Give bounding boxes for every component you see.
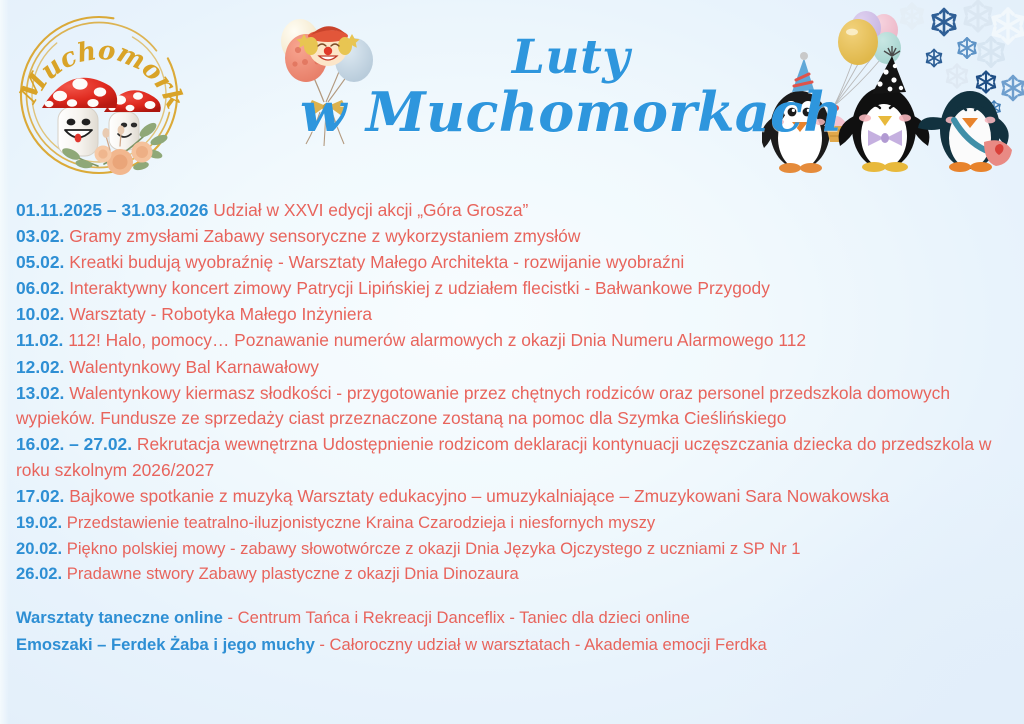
event-date: 19.02. [16, 513, 62, 532]
event-item: 13.02. Walentynkowy kiermasz słodkości -… [16, 381, 1010, 432]
event-description: Interaktywny koncert zimowy Patrycji Lip… [69, 278, 770, 298]
event-description: Rekrutacja wewnętrzna Udostępnienie rodz… [16, 434, 991, 480]
event-description: 112! Halo, pomocy… Poznawanie numerów al… [68, 330, 806, 350]
event-item: 20.02. Piękno polskiej mowy - zabawy sło… [16, 536, 1010, 561]
activity-description: - Całoroczny udział w warsztatach - Akad… [319, 635, 766, 654]
event-description: Przedstawienie teatralno-iluzjonistyczne… [67, 513, 655, 532]
event-item: 05.02. Kreatki budują wyobraźnię - Warsz… [16, 250, 1010, 276]
logo-graphic: Muchomorki [8, 4, 190, 186]
event-description: Bajkowe spotkanie z muzyką Warsztaty edu… [69, 486, 889, 506]
event-description: Walentynkowy kiermasz słodkości - przygo… [16, 383, 950, 429]
event-description: Piękno polskiej mowy - zabawy słowotwórc… [67, 539, 801, 558]
ongoing-activity-item: Emoszaki – Ferdek Żaba i jego muchy - Ca… [16, 631, 1010, 658]
event-date: 03.02. [16, 226, 64, 246]
event-item: 12.02. Walentynkowy Bal Karnawałowy [16, 355, 1010, 381]
penguin-with-handbag-icon [918, 91, 1012, 172]
event-date: 11.02. [16, 330, 63, 350]
event-date: 05.02. [16, 252, 64, 272]
event-date: 06.02. [16, 278, 64, 298]
event-description: Walentynkowy Bal Karnawałowy [69, 357, 319, 377]
event-date: 10.02. [16, 304, 64, 324]
activity-description: - Centrum Tańca i Rekreacji Danceflix - … [227, 608, 689, 627]
event-item: 10.02. Warsztaty - Robotyka Małego Inżyn… [16, 302, 1010, 328]
penguin-with-bowtie-icon [839, 46, 930, 172]
event-item: 26.02. Pradawne stwory Zabawy plastyczne… [16, 561, 1010, 586]
event-date: 12.02. [16, 357, 64, 377]
handbag-icon [984, 140, 1012, 166]
ongoing-activities-list: Warsztaty taneczne online - Centrum Tańc… [0, 604, 1024, 658]
event-description: Warsztaty - Robotyka Małego Inżyniera [69, 304, 372, 324]
title-line-1: Luty [382, 34, 760, 82]
event-date: 26.02. [16, 564, 62, 583]
event-item: 03.02. Gramy zmysłami Zabawy sensoryczne… [16, 224, 1010, 250]
event-description: Pradawne stwory Zabawy plastyczne z okaz… [67, 564, 519, 583]
event-date: 20.02. [16, 539, 62, 558]
muchomorki-logo: Muchomorki [8, 4, 190, 186]
poster-title: Luty w Muchomorkach [330, 34, 760, 140]
title-line-2: w Muchomorkach [300, 84, 760, 140]
event-date: 13.02. [16, 383, 64, 403]
poster-canvas: Muchomorki [0, 0, 1024, 724]
events-list: 01.11.2025 – 31.03.2026 Udział w XXVI ed… [0, 198, 1024, 586]
event-date: 01.11.2025 – 31.03.2026 [16, 200, 208, 220]
event-item: 19.02. Przedstawienie teatralno-iluzjoni… [16, 510, 1010, 535]
event-description: Kreatki budują wyobraźnię - Warsztaty Ma… [69, 252, 684, 272]
event-item: 01.11.2025 – 31.03.2026 Udział w XXVI ed… [16, 198, 1010, 224]
event-description: Udział w XXVI edycji akcji „Góra Grosza” [213, 200, 528, 220]
activity-title: Emoszaki – Ferdek Żaba i jego muchy [16, 635, 315, 654]
event-item: 16.02. – 27.02. Rekrutacja wewnętrzna Ud… [16, 432, 1010, 483]
event-date: 16.02. – 27.02. [16, 434, 132, 454]
ongoing-activity-item: Warsztaty taneczne online - Centrum Tańc… [16, 604, 1010, 631]
event-item: 06.02. Interaktywny koncert zimowy Patry… [16, 276, 1010, 302]
event-date: 17.02. [16, 486, 64, 506]
event-item: 17.02. Bajkowe spotkanie z muzyką Warszt… [16, 484, 1010, 510]
activity-title: Warsztaty taneczne online [16, 608, 223, 627]
event-item: 11.02. 112! Halo, pomocy… Poznawanie num… [16, 328, 1010, 354]
event-description: Gramy zmysłami Zabawy sensoryczne z wyko… [69, 226, 580, 246]
poster-header: Muchomorki [0, 0, 1024, 196]
